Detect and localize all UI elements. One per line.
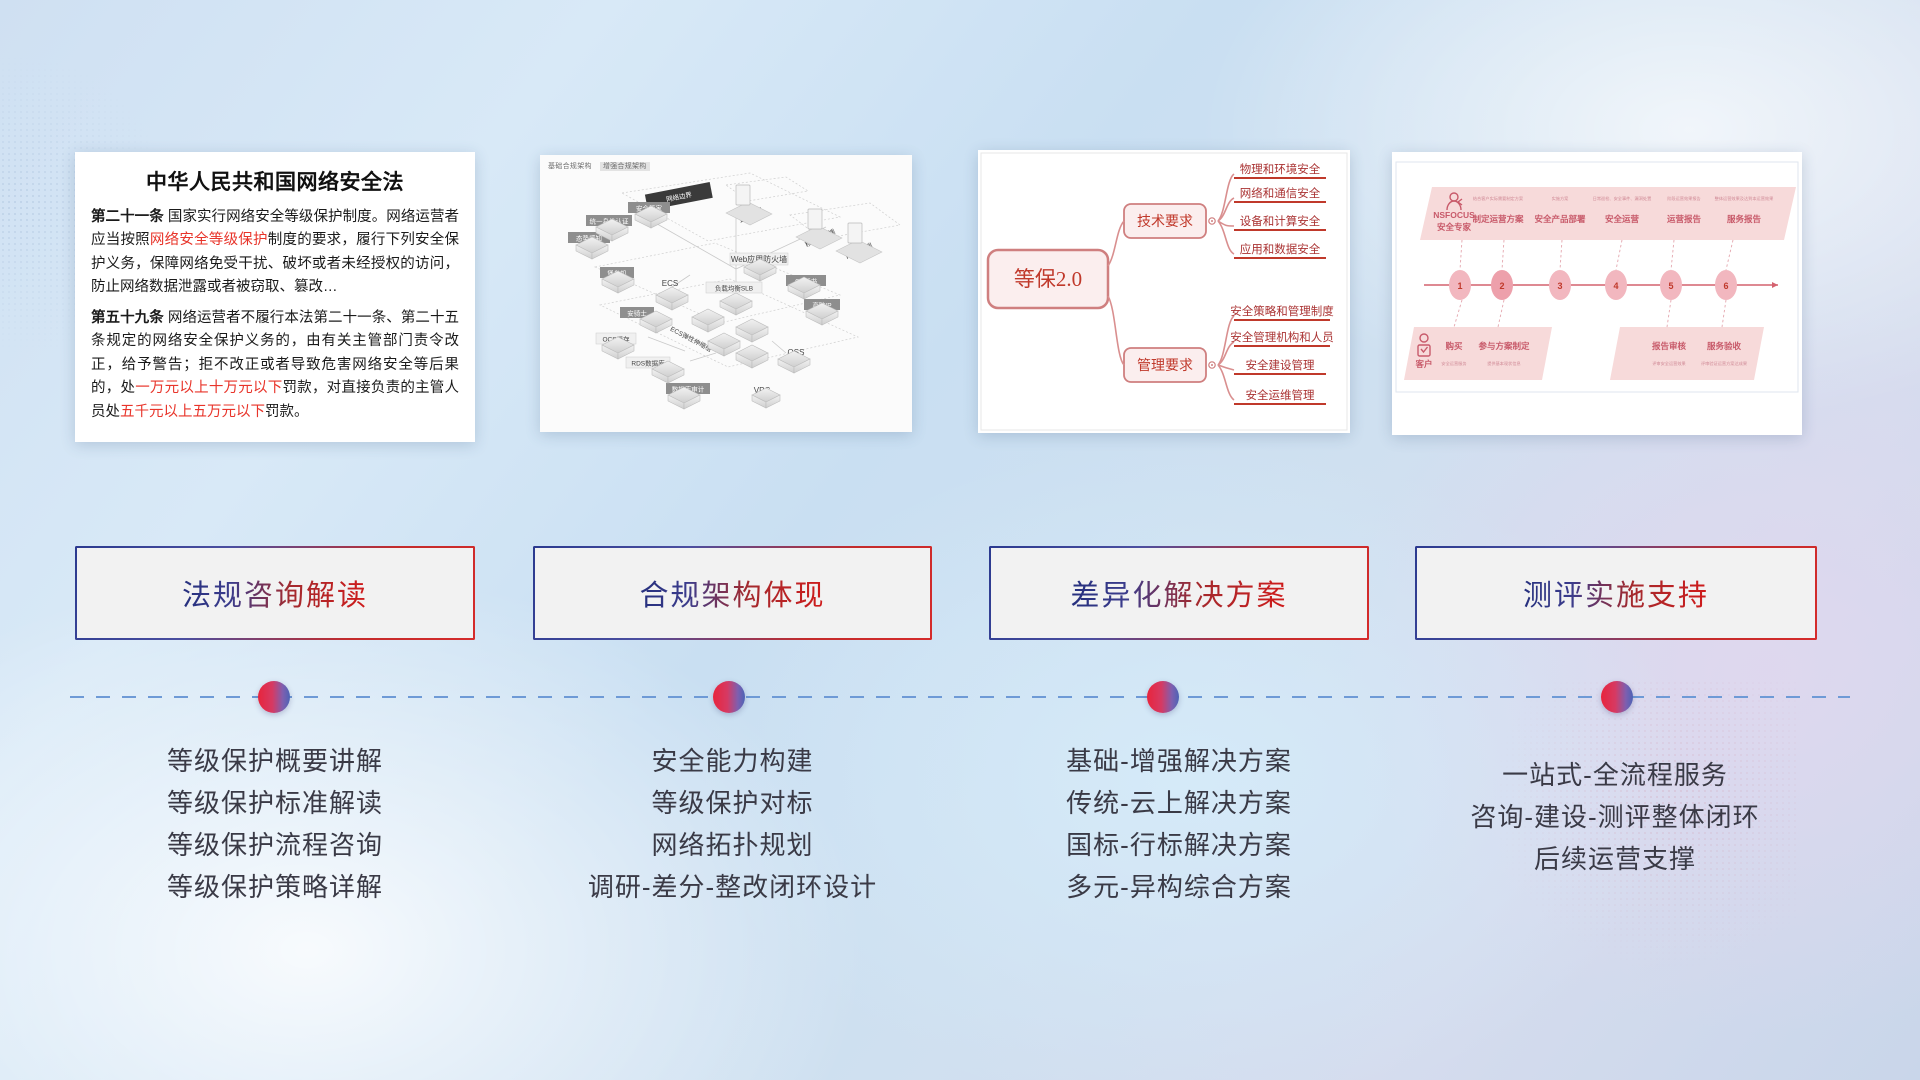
card-cybersecurity-law: 中华人民共和国网络安全法 第二十一条 国家实行网络安全等级保护制度。网络运营者应… <box>75 152 475 442</box>
list-item: 基础-增强解决方案 <box>989 740 1369 782</box>
section-title-box-4[interactable]: 测评实施支持 <box>1415 546 1817 640</box>
law-title: 中华人民共和国网络安全法 <box>91 166 459 196</box>
bottom-step-3-title: 服务验收 <box>1707 341 1742 351</box>
top-step-1-title: 安全产品部署 <box>1534 214 1586 224</box>
timeline-node-5: 5 <box>1668 281 1673 291</box>
top-step-3-sub: 阶段运营效果报告 <box>1667 195 1701 202</box>
section-title-row: 法规咨询解读 合规架构体现 差异化解决方案 测评实施支持 <box>0 546 1920 642</box>
list-item: 调研-差分-整改闭环设计 <box>533 866 932 908</box>
law-article-59: 第五十九条 网络运营者不履行本法第二十一条、第二十五条规定的网络安全保护义务的，… <box>91 307 459 424</box>
mindmap-diagram: 等保2.0 技术要求 管理要求 <box>978 150 1350 433</box>
feature-column-3: 基础-增强解决方案 传统-云上解决方案 国标-行标解决方案 多元-异构综合方案 <box>989 740 1369 908</box>
list-item: 咨询-建设-测评整体闭环 <box>1410 796 1820 838</box>
list-item: 一站式-全流程服务 <box>1410 754 1820 796</box>
timeline-node-6: 6 <box>1723 281 1728 291</box>
section-title-box-3[interactable]: 差异化解决方案 <box>989 546 1369 640</box>
svg-text:ECS: ECS <box>662 279 678 288</box>
bottom-step-1-title: 参与方案制定 <box>1478 341 1530 351</box>
timeline-node-1: 1 <box>1457 281 1462 291</box>
mindmap-branch-0-leaf-2: 设备和计算安全 <box>1240 214 1321 228</box>
mindmap-branch-0-label: 技术要求 <box>1137 214 1193 230</box>
article-21-highlight: 网络安全等级保护 <box>150 232 268 248</box>
law-text-body: 中华人民共和国网络安全法 第二十一条 国家实行网络安全等级保护制度。网络运营者应… <box>75 152 475 442</box>
top-step-4-sub: 整体运营效果及达到本运营效果 <box>1715 195 1774 202</box>
list-item: 国标-行标解决方案 <box>989 824 1369 866</box>
article-59-text-3: 罚款。 <box>265 404 309 420</box>
nsfocus-svg: NSFOCUS 安全专家 客户 结合客户实际需要制定方案 制定运营方案 实施方案… <box>1392 152 1802 435</box>
mindmap-branch-1-label: 管理要求 <box>1137 358 1193 374</box>
mindmap-branch-0-leaf-1: 网络和通信安全 <box>1240 186 1321 200</box>
poster-canvas: 中华人民共和国网络安全法 第二十一条 国家实行网络安全等级保护制度。网络运营者应… <box>0 0 1920 1080</box>
feature-column-1: 等级保护概要讲解 等级保护标准解读 等级保护流程咨询 等级保护策略详解 <box>75 740 475 908</box>
timeline-marker-2[interactable] <box>713 681 745 713</box>
mindmap-svg: 等保2.0 技术要求 管理要求 <box>978 150 1350 433</box>
article-59-fine-1: 一万元以上十万元以下 <box>135 380 282 396</box>
section-title-label-3: 差异化解决方案 <box>1070 572 1287 614</box>
feature-column-2: 安全能力构建 等级保护对标 网络拓扑规划 调研-差分-整改闭环设计 <box>533 740 932 908</box>
list-item: 等级保护概要讲解 <box>75 740 475 782</box>
mindmap-branch-1-leaf-0: 安全策略和管理制度 <box>1230 304 1334 318</box>
top-step-1-sub: 实施方案 <box>1552 195 1570 202</box>
mindmap-branch-1-leaf-2: 安全建设管理 <box>1246 358 1315 372</box>
timeline-marker-1[interactable] <box>258 681 290 713</box>
law-article-21: 第二十一条 国家实行网络安全等级保护制度。网络运营者应当按照网络安全等级保护制度… <box>91 206 459 300</box>
list-item: 等级保护标准解读 <box>75 782 475 824</box>
bottom-step-1-sub: 提供基本现状信息 <box>1487 360 1521 367</box>
dashed-timeline-line <box>70 696 1850 698</box>
top-step-4-title: 服务报告 <box>1727 214 1762 224</box>
timeline-marker-3[interactable] <box>1147 681 1179 713</box>
section-title-label-1: 法规咨询解读 <box>182 572 368 614</box>
feature-lists-row: 等级保护概要讲解 等级保护标准解读 等级保护流程咨询 等级保护策略详解 安全能力… <box>0 740 1920 1040</box>
card-dengbao-mindmap: 等保2.0 技术要求 管理要求 <box>978 150 1350 433</box>
top-step-2-title: 安全运营 <box>1605 214 1640 224</box>
list-item: 传统-云上解决方案 <box>989 782 1369 824</box>
section-title-box-2[interactable]: 合规架构体现 <box>533 546 932 640</box>
list-item: 等级保护策略详解 <box>75 866 475 908</box>
list-item: 等级保护流程咨询 <box>75 824 475 866</box>
svg-text:安骑士: 安骑士 <box>627 309 647 318</box>
mindmap-branch-0-leaf-0: 物理和环境安全 <box>1240 162 1321 176</box>
top-step-2-sub: 日常巡检、安全事件、漏洞处置 <box>1593 195 1652 202</box>
section-title-label-4: 测评实施支持 <box>1523 572 1709 614</box>
nsfocus-expert-role: 安全专家 <box>1437 222 1472 232</box>
top-step-0-title: 制定运营方案 <box>1472 214 1524 224</box>
list-item: 等级保护对标 <box>533 782 932 824</box>
reference-cards-row: 中华人民共和国网络安全法 第二十一条 国家实行网络安全等级保护制度。网络运营者应… <box>0 0 1920 460</box>
timeline-node-4: 4 <box>1613 281 1618 291</box>
mindmap-branch-1-leaf-3: 安全运维管理 <box>1246 388 1315 402</box>
card-nsfocus-service-timeline: NSFOCUS 安全专家 客户 结合客户实际需要制定方案 制定运营方案 实施方案… <box>1392 152 1802 435</box>
architecture-diagram: 基础合规架构增强合规架构 <box>540 155 912 432</box>
nsfocus-timeline-diagram: NSFOCUS 安全专家 客户 结合客户实际需要制定方案 制定运营方案 实施方案… <box>1392 152 1802 435</box>
list-item: 网络拓扑规划 <box>533 824 932 866</box>
timeline-node-3: 3 <box>1557 281 1562 291</box>
bottom-step-2-title: 报告审核 <box>1652 341 1687 351</box>
timeline-marker-4[interactable] <box>1601 681 1633 713</box>
bottom-step-0-sub: 安全运营服务 <box>1441 360 1467 367</box>
mindmap-branch-0-leaf-3: 应用和数据安全 <box>1240 242 1321 256</box>
bottom-step-3-sub: 评审验证运营方案达成果 <box>1701 360 1748 367</box>
mindmap-branch-1-leaf-1: 安全管理机构和人员 <box>1230 330 1334 344</box>
nsfocus-brand: NSFOCUS <box>1433 210 1475 220</box>
top-step-0-sub: 结合客户实际需要制定方案 <box>1473 195 1524 202</box>
section-title-label-2: 合规架构体现 <box>639 572 825 614</box>
article-21-label: 第二十一条 <box>91 209 164 225</box>
list-item: 多元-异构综合方案 <box>989 866 1369 908</box>
list-item: 后续运营支撑 <box>1410 838 1820 880</box>
feature-column-4: 一站式-全流程服务 咨询-建设-测评整体闭环 后续运营支撑 <box>1410 754 1820 880</box>
article-59-label: 第五十九条 <box>91 310 164 326</box>
section-title-box-1[interactable]: 法规咨询解读 <box>75 546 475 640</box>
top-step-3-title: 运营报告 <box>1667 214 1702 224</box>
list-item: 安全能力构建 <box>533 740 932 782</box>
bottom-step-2-sub: 评审安全运营效果 <box>1652 360 1686 367</box>
article-59-fine-2: 五千元以上五万元以下 <box>120 404 265 420</box>
timeline-node-2: 2 <box>1499 281 1504 291</box>
card-compliance-architecture: 基础合规架构增强合规架构 <box>540 155 912 432</box>
architecture-svg: 网络边界 态势感知 统一身份认证 安全管家 堡垒机 安骑士 OCS缓存 RDS数… <box>540 155 912 432</box>
bottom-step-0-title: 购买 <box>1444 341 1463 351</box>
svg-text:负载均衡SLB: 负载均衡SLB <box>715 284 753 293</box>
mindmap-root-label: 等保2.0 <box>1014 267 1082 291</box>
customer-role: 客户 <box>1414 359 1432 369</box>
